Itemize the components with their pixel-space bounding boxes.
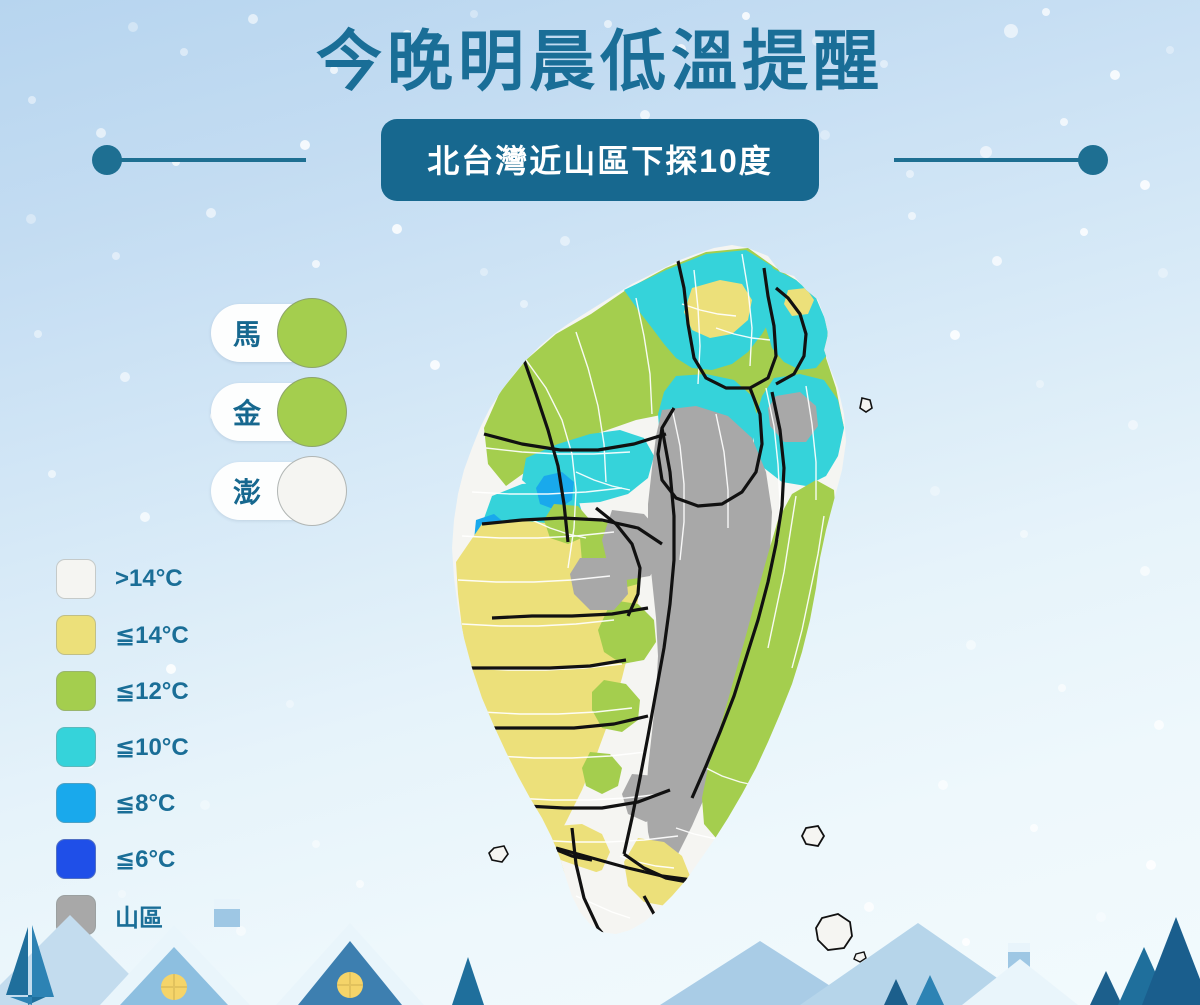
snowflake [312,840,320,848]
subtitle-banner-row: 北台灣近山區下探10度 [0,122,1200,198]
snowflake [34,330,42,338]
snowflake [908,212,916,220]
legend-swatch [56,559,96,599]
snowflake [200,800,210,810]
snowflake [206,208,216,218]
legend-item: ≦6°C [56,831,189,887]
island-temperature-dot [277,456,347,526]
subtitle-banner: 北台灣近山區下探10度 [381,119,819,201]
page-title: 今晚明晨低溫提醒 [0,0,1200,94]
snowflake [26,214,36,224]
snowflake [1096,912,1106,922]
snowflake [1080,228,1088,236]
legend-label: ≦8°C [115,789,175,818]
pine-tree-right-3 [1142,917,1200,1005]
snowflake [966,640,976,650]
decoration-line-right [894,158,1092,162]
snowflake [236,926,246,936]
snowflake [950,330,960,340]
island-badge-金[interactable]: 金 [211,377,347,447]
snowflake [48,470,56,478]
island-xiaoliuqiu [489,846,508,862]
house-left-body [120,947,228,1005]
pine-tree-right-2 [1118,947,1170,1005]
legend-item: 山區 [56,887,189,943]
snowflake [1128,420,1138,430]
legend-label: 山區 [115,898,163,933]
snowflake [1146,860,1156,870]
island-temperature-dot [277,377,347,447]
island-orchid-islet [854,952,866,962]
header: 今晚明晨低溫提醒 北台灣近山區下探10度 [0,0,1200,198]
legend-item: ≦12°C [56,663,189,719]
pine-tree-left-2 [10,925,54,1005]
legend-item: ≦10°C [56,719,189,775]
offshore-island-badges: 馬金澎 [211,298,351,535]
pine-tree-right-1 [1090,971,1122,1005]
legend-item: ≦8°C [56,775,189,831]
temperature-legend: >14°C≦14°C≦12°C≦10°C≦8°C≦6°C山區 [56,551,189,943]
island-green-island [802,826,824,846]
chimney-left-snow [214,899,240,909]
decoration-line-left [108,158,306,162]
legend-label: ≦6°C [115,845,175,874]
island-badge-馬[interactable]: 馬 [211,298,347,368]
pine-tree-left-1 [6,927,50,1005]
snowflake [112,252,120,260]
snowflake [1058,684,1066,692]
legend-swatch [56,615,96,655]
legend-label: ≦12°C [115,677,189,706]
chimney-right [1008,943,1030,979]
window-left2-cross [337,972,363,998]
pine-tree-right-5 [916,975,944,1005]
legend-label: ≦10°C [115,733,189,762]
snowflake [140,512,150,522]
chimney-right-snow [1008,943,1030,952]
island-temperature-dot [277,298,347,368]
legend-item: >14°C [56,551,189,607]
snowflake [992,256,1002,266]
legend-swatch [56,671,96,711]
snowflake [938,780,948,790]
island-orchid-island [816,914,852,950]
snowflake [930,486,940,496]
chimney-left [214,899,240,927]
legend-swatch [56,839,96,879]
taiwan-map[interactable] [376,228,896,988]
snowflake [1140,566,1150,576]
island-guishan [860,398,872,412]
legend-label: >14°C [115,565,183,593]
snowflake [356,880,364,888]
legend-label: ≦14°C [115,621,189,650]
snowflake [286,700,294,708]
snowflake [1154,720,1164,730]
snowflake [120,372,130,382]
legend-swatch [56,783,96,823]
legend-swatch [56,895,96,935]
snowflake [312,260,320,268]
legend-swatch [56,727,96,767]
snowflake [1036,380,1044,388]
legend-item: ≦14°C [56,607,189,663]
snowflake [1020,530,1028,538]
window-left [161,974,187,1000]
decoration-dot-right [1078,145,1108,175]
snowflake [962,938,970,946]
window-left-cross [161,974,187,1000]
island-label: 澎 [233,471,261,511]
window-left2 [337,972,363,998]
snowflake [1158,268,1168,278]
map-regions [452,245,872,962]
island-badge-澎[interactable]: 澎 [211,456,347,526]
snowflake [1030,824,1038,832]
house-right-roof [962,959,1078,1005]
taiwan-map-svg[interactable] [376,228,896,988]
island-label: 金 [233,392,261,432]
island-label: 馬 [233,313,261,353]
